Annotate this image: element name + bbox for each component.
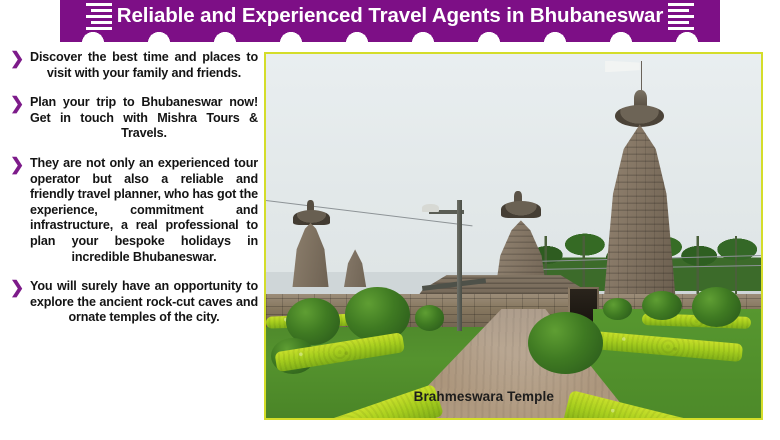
ribbon-stripes-icon: [668, 3, 694, 32]
flag-pole: [641, 61, 642, 94]
dome-crown: [501, 201, 541, 217]
amalaka-crown: [615, 105, 665, 127]
list-item-text: Plan your trip to Bhubaneswar now! Get i…: [30, 95, 258, 142]
chevron-right-icon: ❯: [10, 280, 24, 296]
list-item-text: You will surely have an opportunity to e…: [30, 279, 258, 326]
chevron-right-icon: ❯: [10, 157, 24, 173]
photo-caption: Brahmeswara Temple: [266, 389, 761, 404]
topiary-shrub: [603, 298, 633, 320]
chevron-right-icon: ❯: [10, 96, 24, 112]
list-item-text: Discover the best time and places to vis…: [30, 50, 258, 81]
topiary-shrub: [692, 287, 742, 327]
list-item: ❯ They are not only an experienced tour …: [6, 156, 258, 265]
finial: [307, 200, 314, 211]
page-title: Reliable and Experienced Travel Agents i…: [60, 0, 720, 32]
page-header-banner: Reliable and Experienced Travel Agents i…: [60, 0, 720, 40]
lamp-post: [457, 200, 462, 331]
list-item: ❯ Plan your trip to Bhubaneswar now! Get…: [6, 95, 258, 142]
benefits-list: ❯ Discover the best time and places to v…: [6, 50, 258, 326]
topiary-shrub: [642, 291, 682, 320]
list-item-text: They are not only an experienced tour op…: [30, 156, 258, 265]
chevron-right-icon: ❯: [10, 51, 24, 67]
list-item: ❯ You will surely have an opportunity to…: [6, 279, 258, 326]
photo-scene: Brahmeswara Temple: [266, 54, 761, 418]
temple-photo: Brahmeswara Temple: [264, 52, 763, 420]
dome-crown: [293, 210, 330, 225]
street-lamp-icon: [422, 204, 439, 213]
ribbon-stripes-icon: [86, 3, 112, 32]
topiary-shrub: [415, 305, 445, 330]
topiary-shrub: [528, 312, 602, 374]
list-item: ❯ Discover the best time and places to v…: [6, 50, 258, 81]
